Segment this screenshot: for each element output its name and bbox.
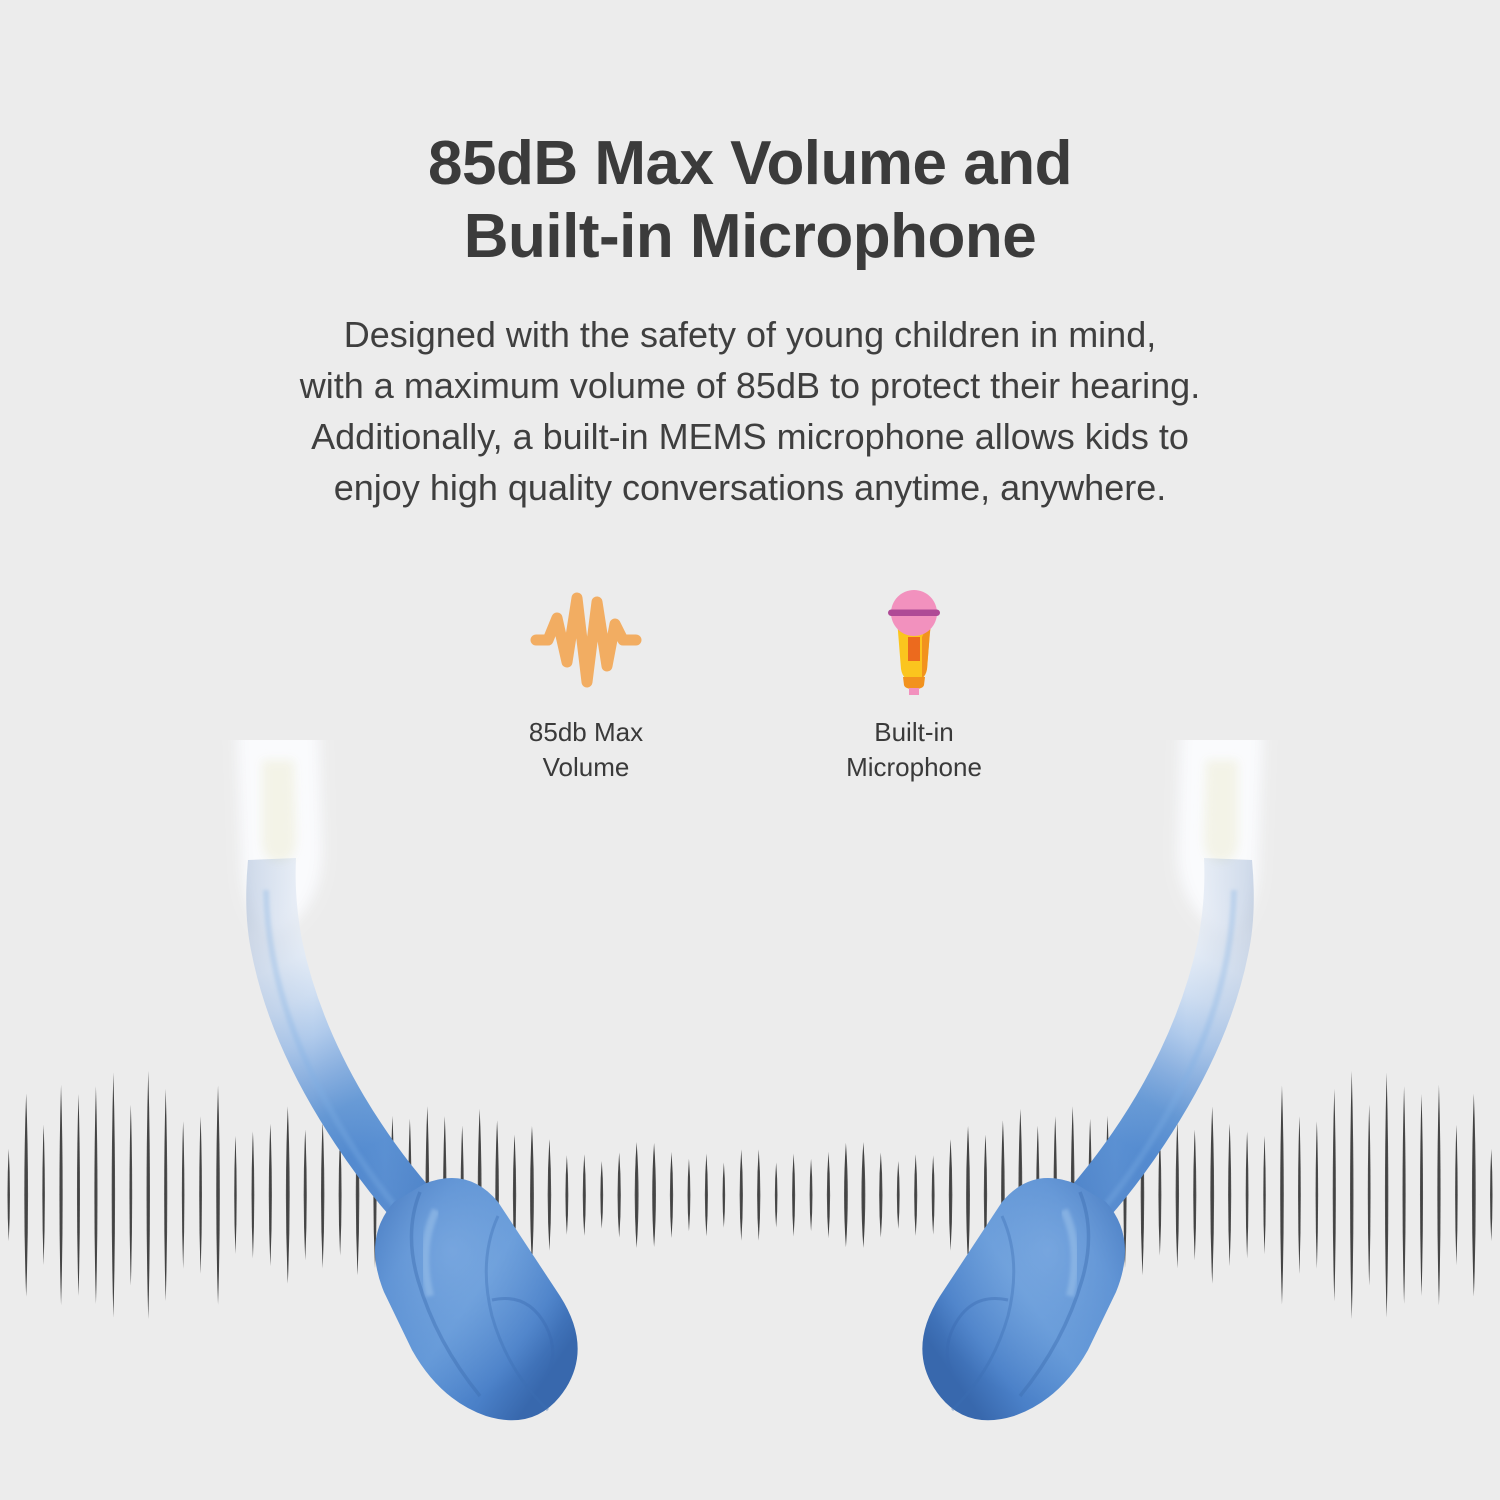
feature-label-line-1: Built-in xyxy=(846,715,982,750)
feature-label-line-1: 85db Max xyxy=(529,715,643,750)
headline-line-1: 85dB Max Volume and xyxy=(0,128,1500,201)
page-title: 85dB Max Volume and Built-in Microphone xyxy=(0,128,1500,273)
subcopy-line-3: Additionally, a built-in MEMS microphone… xyxy=(0,411,1500,462)
feature-list: 85db Max Volume xyxy=(0,585,1500,785)
feature-label-built-in-microphone: Built-in Microphone xyxy=(846,715,982,785)
feature-label-max-volume: 85db Max Volume xyxy=(529,715,643,785)
subcopy-line-1: Designed with the safety of young childr… xyxy=(0,309,1500,360)
feature-built-in-microphone: Built-in Microphone xyxy=(806,585,1022,785)
page-description: Designed with the safety of young childr… xyxy=(0,309,1500,513)
feature-label-line-2: Microphone xyxy=(846,750,982,785)
audio-waveform-background xyxy=(0,1010,1500,1380)
feature-label-line-2: Volume xyxy=(529,750,643,785)
feature-max-volume: 85db Max Volume xyxy=(478,585,694,785)
subcopy-line-4: enjoy high quality conversations anytime… xyxy=(0,462,1500,513)
microphone-icon xyxy=(875,585,953,695)
sound-wave-icon xyxy=(527,585,645,695)
headline-line-2: Built-in Microphone xyxy=(0,201,1500,274)
subcopy-line-2: with a maximum volume of 85dB to protect… xyxy=(0,360,1500,411)
copy-block: 85dB Max Volume and Built-in Microphone … xyxy=(0,0,1500,514)
